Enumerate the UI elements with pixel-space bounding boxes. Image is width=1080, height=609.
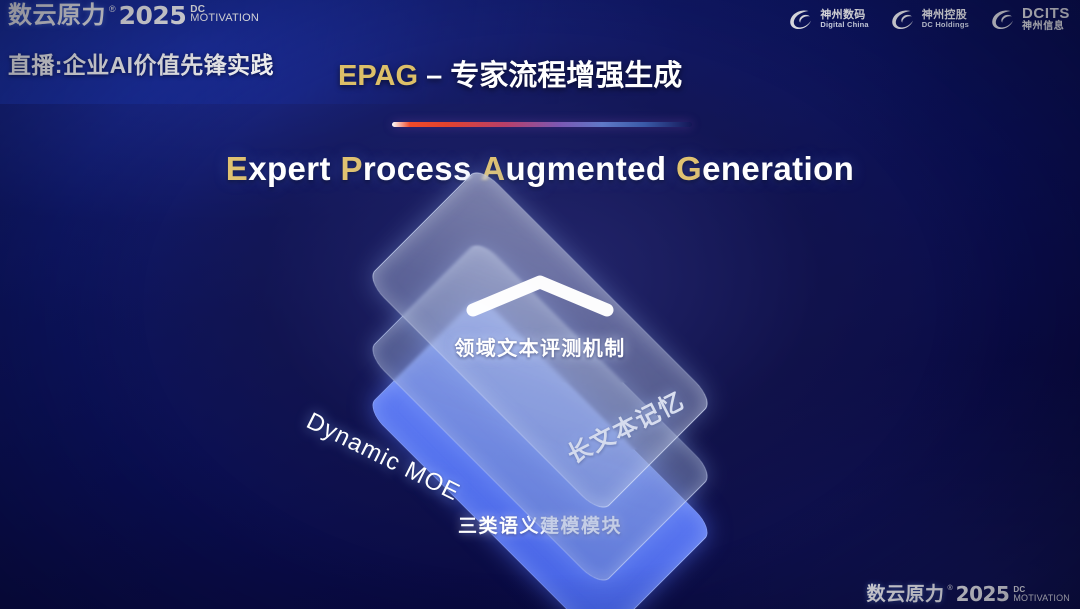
- slide-canvas: 数云原力 ® 2025 DC MOTIVATION 直播:企业AI价值先锋实践 …: [0, 0, 1080, 609]
- watermark-dc-motivation: DC MOTIVATION: [1013, 586, 1070, 603]
- chevron-up-icon: [465, 272, 615, 318]
- watermark-motivation-word: MOTIVATION: [1013, 594, 1070, 603]
- brand-watermark: 数云原力 ® 2025 DC MOTIVATION: [866, 584, 1070, 605]
- watermark-name-cn: 数云原力: [866, 584, 944, 605]
- watermark-year: 2025: [956, 584, 1010, 605]
- layered-architecture-diagram: 三类语义建模模块 Dynamic MOE 长文本记忆 领域文本评测机制: [0, 0, 1080, 609]
- watermark-registered-mark: ®: [947, 584, 952, 593]
